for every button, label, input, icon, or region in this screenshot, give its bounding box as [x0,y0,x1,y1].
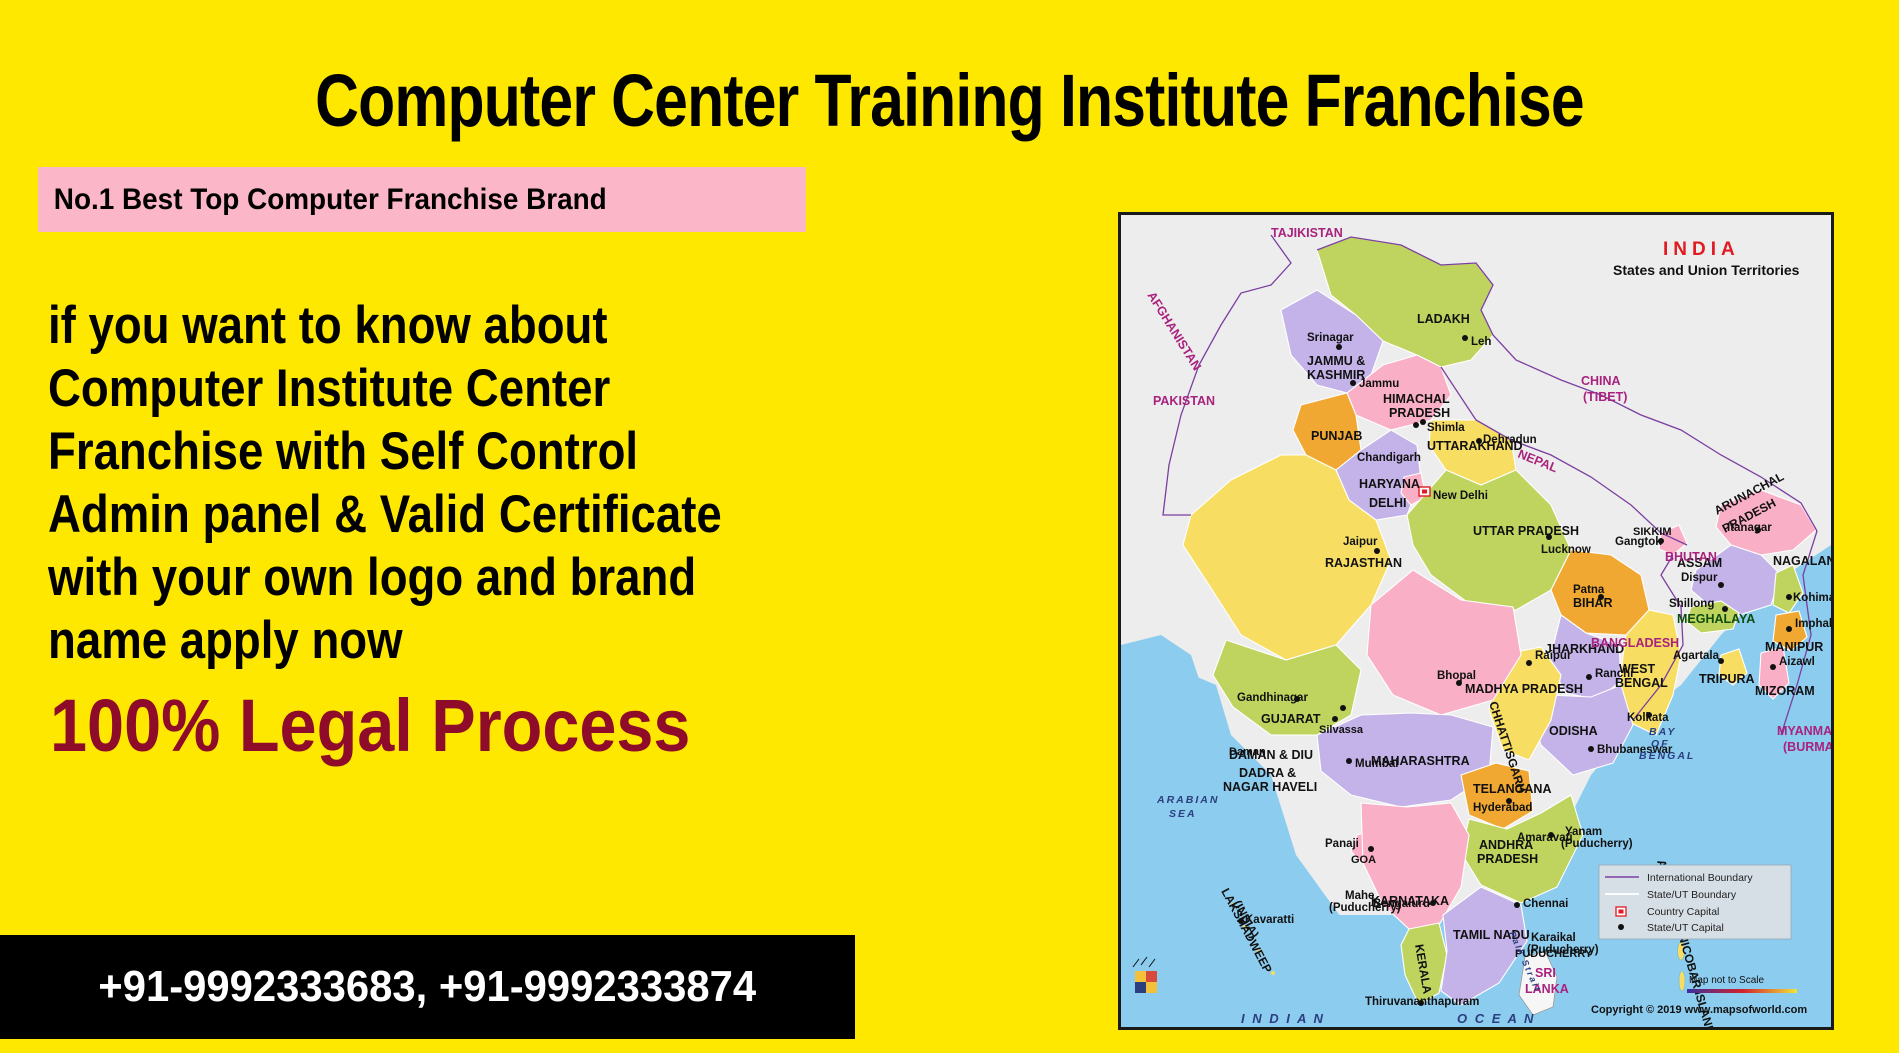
tagline-text: No.1 Best Top Computer Franchise Brand [38,183,607,217]
city-mumbai: Mumbai [1355,758,1398,770]
city-panaji: Panaji [1325,838,1359,850]
body-line: if you want to know about [48,294,788,357]
city-chandigarh: Chandigarh [1357,452,1421,464]
map-title: INDIA [1663,239,1740,260]
city-patna: Patna [1573,584,1605,596]
legend-label-international: International Boundary [1647,872,1753,884]
label-jammu-kashmir-2: KASHMIR [1307,368,1365,382]
phone-numbers: +91-9992333683, +91-9992333874 [99,962,757,1012]
body-line: name apply now [48,609,788,672]
legal-process-headline: 100% Legal Process [50,683,690,768]
city-dispur: Dispur [1681,572,1718,584]
city-raipur: Raipur [1535,650,1572,662]
label-indian: I N D I A N [1241,1011,1325,1026]
label-myanmar: MYANMAR [1777,724,1831,738]
city-ranchi: Ranchi [1595,668,1633,680]
label-bihar: BIHAR [1573,596,1613,610]
city-kohima: Kohima [1793,592,1831,604]
city-shimla: Shimla [1427,422,1465,434]
city-chennai: Chennai [1523,898,1568,910]
label-delhi: DELHI [1369,496,1407,510]
label-bangladesh: BANGLADESH [1591,636,1679,650]
body-copy: if you want to know about Computer Insti… [48,294,908,672]
city-yanam-2: (Puducherry) [1561,838,1633,850]
city-itanagar: Itanagar [1727,522,1772,534]
scale-note: Map not to Scale [1689,975,1764,986]
legend-country-capital-icon-inner [1619,910,1624,914]
city-karaikal-1: Karaikal [1531,932,1576,944]
label-bay-2: OF [1651,738,1670,750]
label-meghalaya: MEGHALAYA [1677,612,1755,626]
label-ocean: O C E A N [1457,1011,1535,1026]
label-bay-1: BAY [1649,726,1676,738]
label-himachal-1: HIMACHAL [1383,392,1450,406]
city-dehradun: Dehradun [1483,434,1537,446]
label-arabian-sea-2: SEA [1169,808,1197,820]
city-gandhinagar: Gandhinagar [1237,692,1308,704]
label-madhya-pradesh: MADHYA PRADESH [1465,682,1583,696]
label-dadra-2: NAGAR HAVELI [1223,780,1317,794]
city-jaipur: Jaipur [1343,536,1378,548]
legend-label-state-boundary: State/UT Boundary [1647,889,1737,901]
label-gujarat: GUJARAT [1261,712,1321,726]
label-punjab: PUNJAB [1311,429,1362,443]
city-mahe-1: Mahe [1345,890,1374,902]
city-imphal: Imphal [1795,618,1831,630]
city-kolkata: Kolkata [1627,712,1669,724]
label-mizoram: MIZORAM [1755,684,1815,698]
legend-state-capital-icon [1618,924,1624,930]
body-line: with your own logo and brand [48,546,788,609]
city-jammu: Jammu [1359,378,1399,390]
label-tajikistan: TAJIKISTAN [1271,226,1343,240]
country-capital-marker [1419,487,1430,496]
body-line: Admin panel & Valid Certificate [48,483,788,546]
label-himachal-2: PRADESH [1389,406,1450,420]
label-odisha: ODISHA [1549,724,1598,738]
city-new-delhi: New Delhi [1433,490,1488,502]
city-aizawl: Aizawl [1779,656,1815,668]
city-hyderabad: Hyderabad [1473,802,1532,814]
label-ladakh: LADAKH [1417,312,1470,326]
body-line: Computer Institute Center [48,357,788,420]
phone-banner[interactable]: +91-9992333683, +91-9992333874 [0,935,855,1039]
label-dadra-1: DADRA & [1239,766,1296,780]
label-china: CHINA [1581,374,1621,388]
city-agartala: Agartala [1673,650,1720,662]
legend-label-country-capital: Country Capital [1647,906,1719,918]
city-karaikal-2: (Puducherry) [1527,944,1599,956]
label-manipur: MANIPUR [1765,640,1823,654]
city-leh: Leh [1471,336,1491,348]
label-jammu-kashmir-1: JAMMU & [1307,354,1365,368]
city-gangtok: Gangtok [1615,536,1662,548]
city-srinagar: Srinagar [1307,332,1354,344]
label-uttar-pradesh: UTTAR PRADESH [1473,524,1579,538]
label-goa: GOA [1351,854,1376,866]
label-nagaland: NAGALAND [1773,554,1831,568]
label-bhutan: BHUTAN [1665,550,1717,564]
city-lucknow: Lucknow [1541,544,1591,556]
label-tripura: TRIPURA [1699,672,1755,686]
label-pakistan: PAKISTAN [1153,394,1215,408]
india-map: LADAKH JAMMU & KASHMIR HIMACHAL PRADESH … [1118,212,1834,1030]
map-legend: International Boundary State/UT Boundary… [1599,865,1791,939]
city-silvassa: Silvassa [1319,724,1364,736]
india-map-svg: LADAKH JAMMU & KASHMIR HIMACHAL PRADESH … [1121,215,1831,1027]
city-yanam-1: Yanam [1565,826,1602,838]
scale-bar [1687,989,1797,993]
label-bay-3: BENGAL [1639,750,1695,762]
city-kavaratti: Kavaratti [1245,914,1294,926]
label-burma: (BURMA) [1783,740,1831,754]
body-line: Franchise with Self Control [48,420,788,483]
label-andhra-2: PRADESH [1477,852,1538,866]
city-daman: Daman [1229,746,1266,758]
city-shillong: Shillong [1669,598,1714,610]
copyright-text: Copyright © 2019 www.mapsofworld.com [1591,1004,1807,1016]
city-mahe-2: (Puducherry) [1329,902,1401,914]
legend-label-state-capital: State/UT Capital [1647,922,1724,934]
page-title: Computer Center Training Institute Franc… [171,58,1728,143]
city-bhopal: Bhopal [1437,670,1476,682]
city-thiruvananthapuram: Thiruvananthapuram [1365,996,1479,1008]
label-tibet: (TIBET) [1583,390,1627,404]
tagline-banner: No.1 Best Top Computer Franchise Brand [38,167,806,232]
label-arabian-sea-1: ARABIAN [1156,794,1219,806]
label-haryana: HARYANA [1359,477,1420,491]
map-subtitle: States and Union Territories [1613,262,1800,278]
label-rajasthan: RAJASTHAN [1325,556,1402,570]
